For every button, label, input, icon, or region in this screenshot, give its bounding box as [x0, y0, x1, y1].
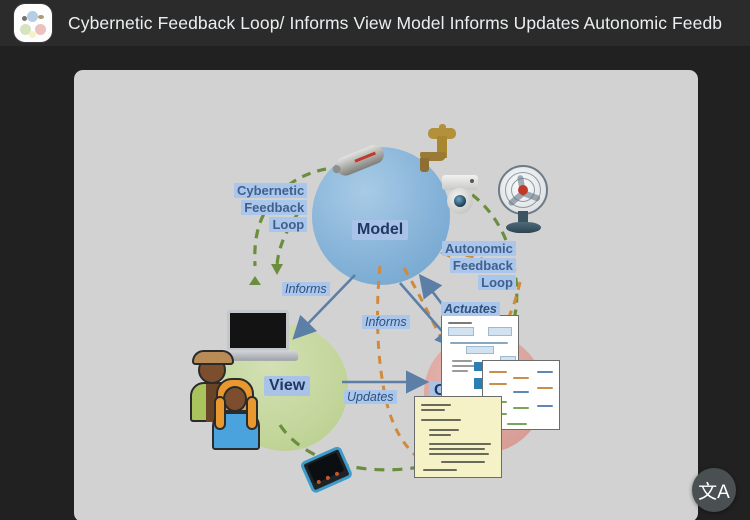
edge-label-updates: Updates	[344, 390, 397, 404]
edge-label-actuates: Actuates	[441, 302, 500, 316]
app-icon-device-b	[38, 15, 44, 19]
code-listing-document	[414, 396, 502, 478]
node-label-model: Model	[352, 220, 408, 240]
diagram-slide: Model View Controller Cybernetic Feedbac…	[74, 70, 698, 520]
cfl-line-1: Cybernetic	[234, 183, 307, 198]
cfl-line-3: Loop	[269, 217, 307, 232]
translate-button[interactable]: 文A	[692, 468, 736, 512]
afl-line-2: Feedback	[450, 258, 516, 273]
app-icon[interactable]	[14, 4, 52, 42]
afl-line-1: Autonomic	[442, 241, 516, 256]
page-title: Cybernetic Feedback Loop/ Informs View M…	[68, 0, 722, 46]
afl-line-3: Loop	[478, 275, 516, 290]
app-icon-device-c	[29, 31, 36, 38]
app-icon-model-dot	[27, 11, 38, 22]
arrows-layer	[74, 70, 698, 520]
node-label-view: View	[264, 376, 310, 396]
translate-icon: 文A	[698, 477, 730, 504]
autonomic-feedback-loop-label: Autonomic Feedback Loop	[442, 241, 516, 292]
app-header: Cybernetic Feedback Loop/ Informs View M…	[0, 0, 750, 46]
app-icon-controller-dot	[35, 24, 46, 35]
image-canvas[interactable]: Model View Controller Cybernetic Feedbac…	[74, 70, 698, 520]
edge-label-informs-controller: Informs	[362, 315, 410, 329]
edge-label-informs-view: Informs	[282, 282, 330, 296]
app-icon-device-a	[22, 16, 27, 21]
screen-root: Cybernetic Feedback Loop/ Informs View M…	[0, 0, 750, 520]
cybernetic-feedback-loop-label: Cybernetic Feedback Loop	[234, 183, 307, 234]
cfl-line-2: Feedback	[241, 200, 307, 215]
